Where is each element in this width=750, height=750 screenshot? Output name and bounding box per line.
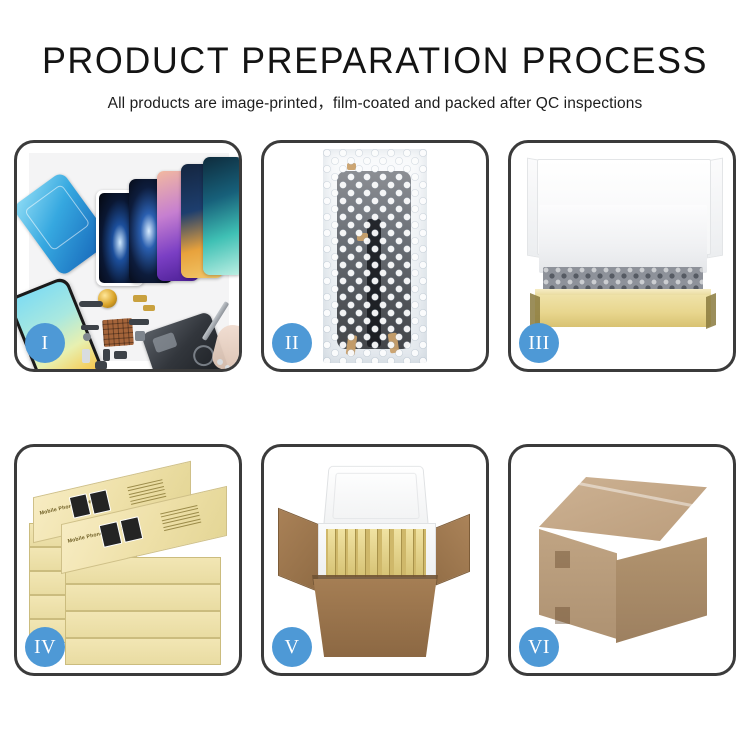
bubble-wrap-bag xyxy=(323,149,427,363)
step-badge-4: IV xyxy=(25,627,65,667)
process-step-panel-4: Mobile Phone Spare Parts Mobile Phone Sp… xyxy=(14,444,242,676)
stacked-box-r4 xyxy=(65,638,221,665)
spare-part-taptic xyxy=(95,361,107,369)
process-step-panel-1: I xyxy=(14,140,242,372)
step-badge-2: II xyxy=(272,323,312,363)
spare-part-screw-2 xyxy=(225,365,230,369)
spare-part-flex-cable xyxy=(81,325,99,330)
spare-part-screw-1 xyxy=(217,359,223,365)
spare-part-camera xyxy=(114,351,127,359)
shipping-carton-tab-lower xyxy=(555,607,570,624)
stacked-box-r3 xyxy=(65,611,221,638)
spare-part-bracket xyxy=(135,331,145,341)
bubble-texture-overlay xyxy=(323,149,427,363)
spare-part-speaker xyxy=(83,333,91,341)
step-badge-6: VI xyxy=(519,627,559,667)
spare-part-gold-connector xyxy=(133,295,147,302)
step-badge-1: I xyxy=(25,323,65,363)
page-subtitle: All products are image-printed，film-coat… xyxy=(0,91,750,113)
yellow-boxes-inside xyxy=(326,529,426,577)
spare-part-gold-clip xyxy=(143,305,155,311)
shipping-carton-top-face xyxy=(539,477,707,541)
shipping-carton-left-face xyxy=(539,529,617,639)
foam-sheet-liner xyxy=(539,205,707,273)
process-step-panel-5: V xyxy=(261,444,489,676)
spare-part-button xyxy=(103,349,110,361)
carton-body xyxy=(308,579,442,657)
process-steps-grid: I II III xyxy=(14,140,736,676)
spare-part-sim-tray xyxy=(82,349,90,363)
spare-part-bar xyxy=(79,301,103,307)
process-step-panel-3: III xyxy=(508,140,736,372)
shipping-carton-right-face xyxy=(616,537,707,643)
mailer-box-front xyxy=(535,295,711,327)
stacked-box-r2 xyxy=(65,584,221,611)
phone-display-teal xyxy=(203,157,239,275)
step-badge-3: III xyxy=(519,323,559,363)
shipping-carton-tab-upper xyxy=(555,551,570,568)
step-badge-5: V xyxy=(272,627,312,667)
spare-part-antenna xyxy=(129,319,149,325)
process-step-panel-6: VI xyxy=(508,444,736,676)
page-header: PRODUCT PREPARATION PROCESS All products… xyxy=(0,0,750,113)
process-step-panel-2: II xyxy=(261,140,489,372)
page-title: PRODUCT PREPARATION PROCESS xyxy=(11,40,739,82)
foam-cooler-lid xyxy=(323,466,429,528)
